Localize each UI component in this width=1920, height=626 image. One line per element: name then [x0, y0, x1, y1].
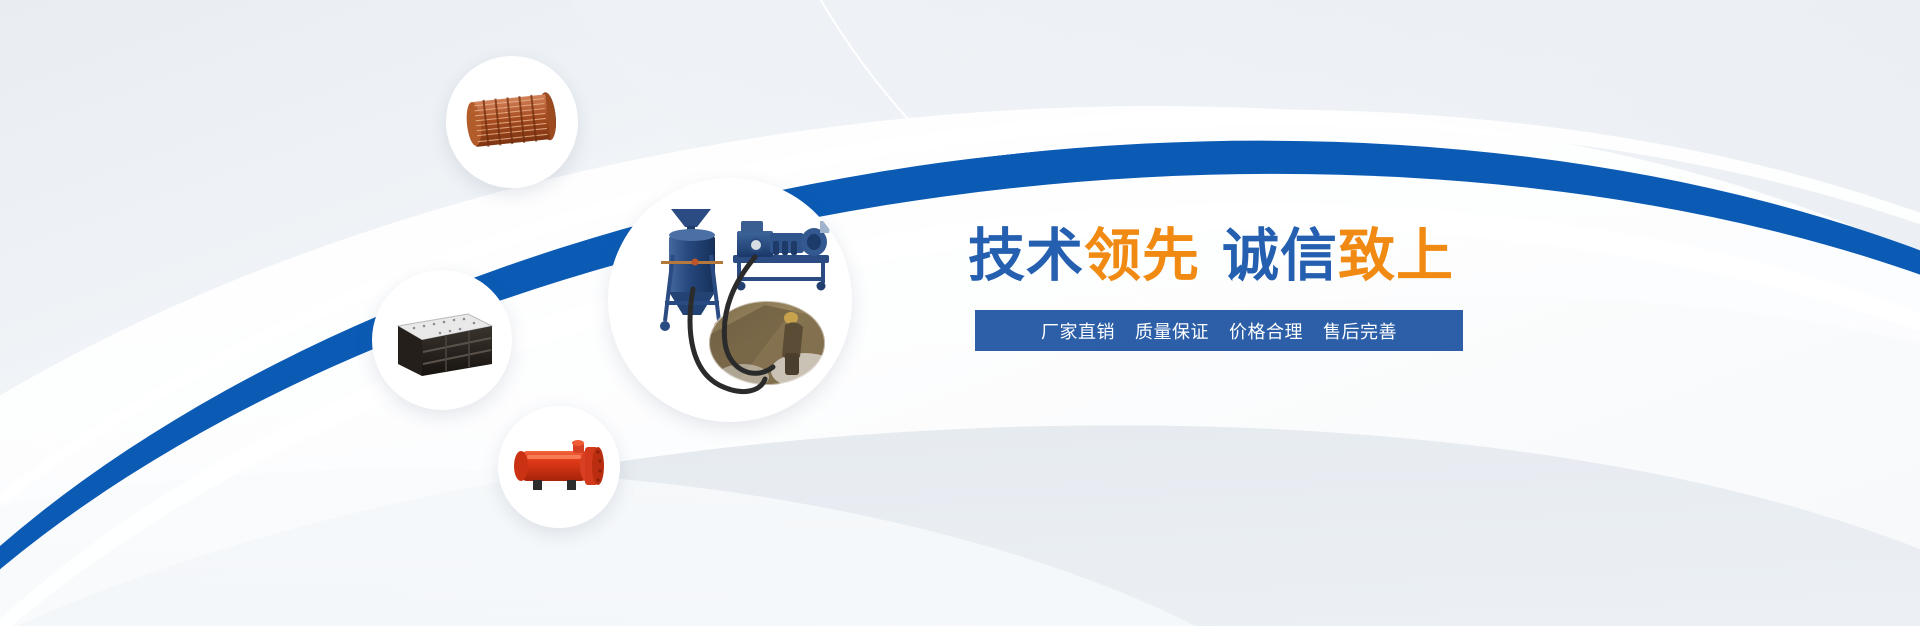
background-decoration	[0, 0, 1920, 626]
feature-item-2: 价格合理	[1229, 318, 1303, 344]
headline-segment-2: 领先	[1084, 224, 1200, 288]
product-circle-plate-unit[interactable]	[372, 270, 512, 410]
feature-bar: 厂家直销 质量保证 价格合理 售后完善	[975, 310, 1463, 351]
shell-and-tube-vessel-icon	[503, 411, 615, 523]
copper-tube-bundle-icon	[452, 62, 572, 182]
product-circle-red-vessel[interactable]	[498, 406, 620, 528]
ribbon-underlight	[0, 76, 1920, 626]
background-hairline-arc	[726, 0, 1920, 414]
feature-item-1: 质量保证	[1135, 318, 1209, 344]
background-arc-bottom-left	[0, 437, 1433, 626]
background-arc-shadow-band	[0, 361, 1920, 626]
plate-heat-exchanger-icon	[380, 278, 504, 402]
headline-segment-4: 致上	[1338, 224, 1454, 288]
feature-item-3: 售后完善	[1323, 318, 1397, 344]
feature-item-0: 厂家直销	[1041, 318, 1115, 344]
ribbon-gloss-highlight	[0, 0, 1920, 626]
product-circle-tube-bundle[interactable]	[446, 56, 578, 188]
background-arc-main	[0, 0, 1920, 626]
industrial-cleaning-equipment-icon	[615, 185, 845, 415]
product-circle-cleaning-equipment[interactable]	[608, 178, 852, 422]
headline-segment-1: 技术	[968, 224, 1084, 288]
blue-ribbon-group	[0, 0, 1920, 626]
headline: 技术领先诚信致上	[968, 228, 1454, 285]
blue-diagonal-ribbon	[0, 9, 1920, 626]
hero-banner: 技术领先诚信致上 厂家直销 质量保证 价格合理 售后完善	[0, 0, 1920, 626]
headline-segment-3: 诚信	[1222, 224, 1338, 288]
